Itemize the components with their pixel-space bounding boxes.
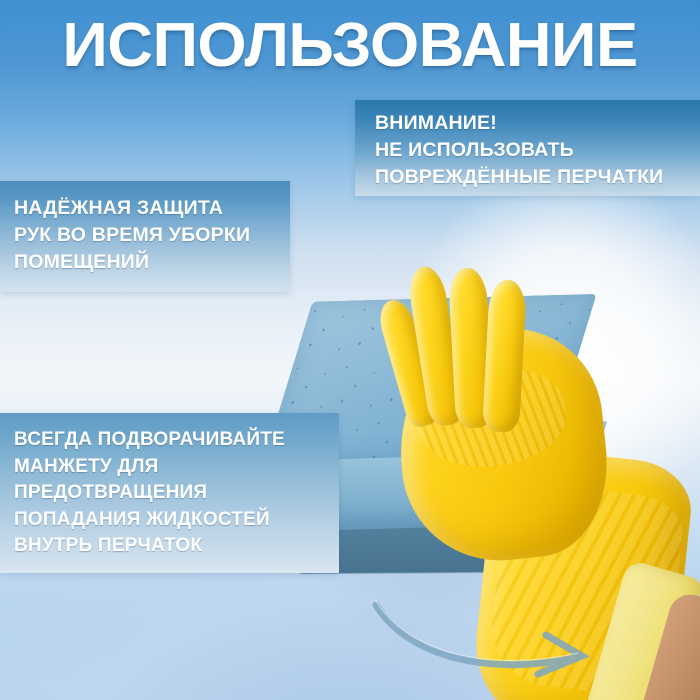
cuff-plate: ВСЕГДА ПОДВОРАЧИВАЙТЕ МАНЖЕТУ ДЛЯ ПРЕДОТ… [0,413,339,573]
protection-plate: НАДЁЖНАЯ ЗАЩИТА РУК ВО ВРЕМЯ УБОРКИ ПОМЕ… [0,181,290,292]
protection-plate-line-1: НАДЁЖНАЯ ЗАЩИТА [14,195,276,222]
poster-canvas: ИСПОЛЬЗОВАНИЕ ВНИМАНИЕ! НЕ ИСПОЛЬЗОВАТЬ … [0,0,700,700]
cuff-plate-line-5: ВНУТРЬ ПЕРЧАТОК [14,533,325,560]
glove-finger-4 [482,279,527,433]
cuff-plate-line-1: ВСЕГДА ПОДВОРАЧИВАЙТЕ [14,427,325,454]
protection-plate-line-2: РУК ВО ВРЕМЯ УБОРКИ [14,222,276,249]
warning-plate-line-3: ПОВРЕЖДЁННЫЕ ПЕРЧАТКИ [375,164,686,191]
cuff-plate-line-2: МАНЖЕТУ ДЛЯ [14,454,325,481]
protection-plate-line-3: ПОМЕЩЕНИЙ [14,249,276,276]
warning-plate-line-2: НЕ ИСПОЛЬЗОВАТЬ [375,137,686,164]
cuff-plate-line-3: ПРЕДОТВРАЩЕНИЯ [14,480,325,507]
page-title: ИСПОЛЬЗОВАНИЕ [0,5,700,87]
curved-arrow-icon [370,595,630,680]
cuff-plate-line-4: ПОПАДАНИЯ ЖИДКОСТЕЙ [14,507,325,534]
warning-plate-line-1: ВНИМАНИЕ! [375,110,686,137]
warning-plate: ВНИМАНИЕ! НЕ ИСПОЛЬЗОВАТЬ ПОВРЕЖДЁННЫЕ П… [355,100,700,196]
